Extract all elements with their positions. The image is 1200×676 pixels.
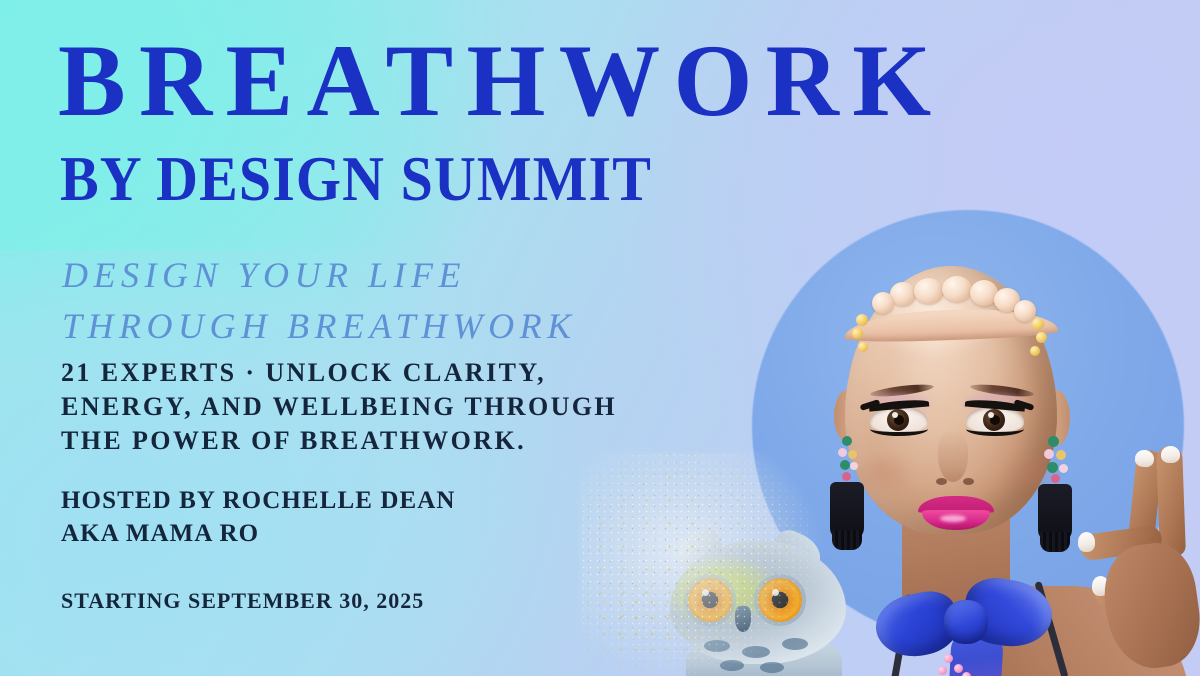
earring-bead bbox=[1051, 474, 1060, 483]
earring-bead bbox=[838, 448, 847, 457]
promo-poster: BREATHWORK BY DESIGN SUMMIT DESIGN YOUR … bbox=[0, 0, 1200, 676]
owl-eye-glint-right bbox=[772, 589, 779, 596]
earring-bead bbox=[1048, 436, 1059, 447]
owl-feather bbox=[742, 646, 770, 658]
fingernail bbox=[1078, 532, 1095, 552]
page-title: BREATHWORK bbox=[58, 30, 1151, 133]
bow-flower bbox=[962, 672, 971, 676]
nose bbox=[938, 430, 968, 482]
lashes-right bbox=[966, 422, 1024, 436]
owl-feather bbox=[760, 662, 784, 673]
earring-bead bbox=[1044, 449, 1054, 459]
eye-glint-left bbox=[892, 412, 898, 418]
lips bbox=[918, 496, 994, 530]
start-date: STARTING SEPTEMBER 30, 2025 bbox=[61, 588, 424, 614]
crown-highlight bbox=[878, 284, 998, 356]
host-credit: HOSTED BY ROCHELLE DEAN AKA MAMA RO bbox=[61, 484, 456, 551]
earring-bead bbox=[1059, 464, 1068, 473]
earring-tassel-right bbox=[1038, 484, 1072, 542]
earring-bead bbox=[842, 436, 852, 446]
nostril-left bbox=[936, 478, 947, 485]
owl-feather bbox=[782, 638, 808, 650]
owl-eye-glint-left bbox=[702, 589, 709, 596]
nostril-right bbox=[963, 478, 974, 485]
owl-feather bbox=[704, 640, 730, 652]
owl-beak bbox=[735, 606, 751, 632]
lip-highlight bbox=[940, 515, 966, 522]
earring-bead bbox=[848, 450, 857, 459]
owl-eye-left bbox=[688, 578, 732, 622]
raised-hand bbox=[1072, 446, 1200, 676]
owl-image bbox=[650, 536, 880, 676]
bow-knot bbox=[944, 600, 988, 644]
owl-feather bbox=[720, 660, 744, 671]
earring-bead bbox=[850, 462, 858, 470]
cheek-contour-left bbox=[856, 456, 908, 490]
palm bbox=[1098, 538, 1200, 674]
neck-bow bbox=[876, 572, 1060, 676]
page-subtitle: BY DESIGN SUMMIT bbox=[60, 148, 652, 211]
lashes-left bbox=[870, 422, 928, 436]
earring-bead bbox=[1056, 450, 1066, 460]
bow-flower bbox=[944, 654, 953, 663]
earring-bead bbox=[842, 472, 851, 481]
earring-tassel-left bbox=[830, 482, 864, 540]
bow-flower bbox=[938, 666, 947, 675]
eye-glint-right bbox=[988, 412, 994, 418]
tagline: DESIGN YOUR LIFE THROUGH BREATHWORK bbox=[62, 250, 577, 352]
owl-eye-right bbox=[758, 578, 802, 622]
fingernail bbox=[1161, 446, 1180, 463]
bow-flower bbox=[954, 664, 963, 673]
body-copy: 21 EXPERTS · UNLOCK CLARITY, ENERGY, AND… bbox=[61, 356, 617, 458]
earring-bead bbox=[840, 460, 850, 470]
earring-bead bbox=[1047, 462, 1058, 473]
